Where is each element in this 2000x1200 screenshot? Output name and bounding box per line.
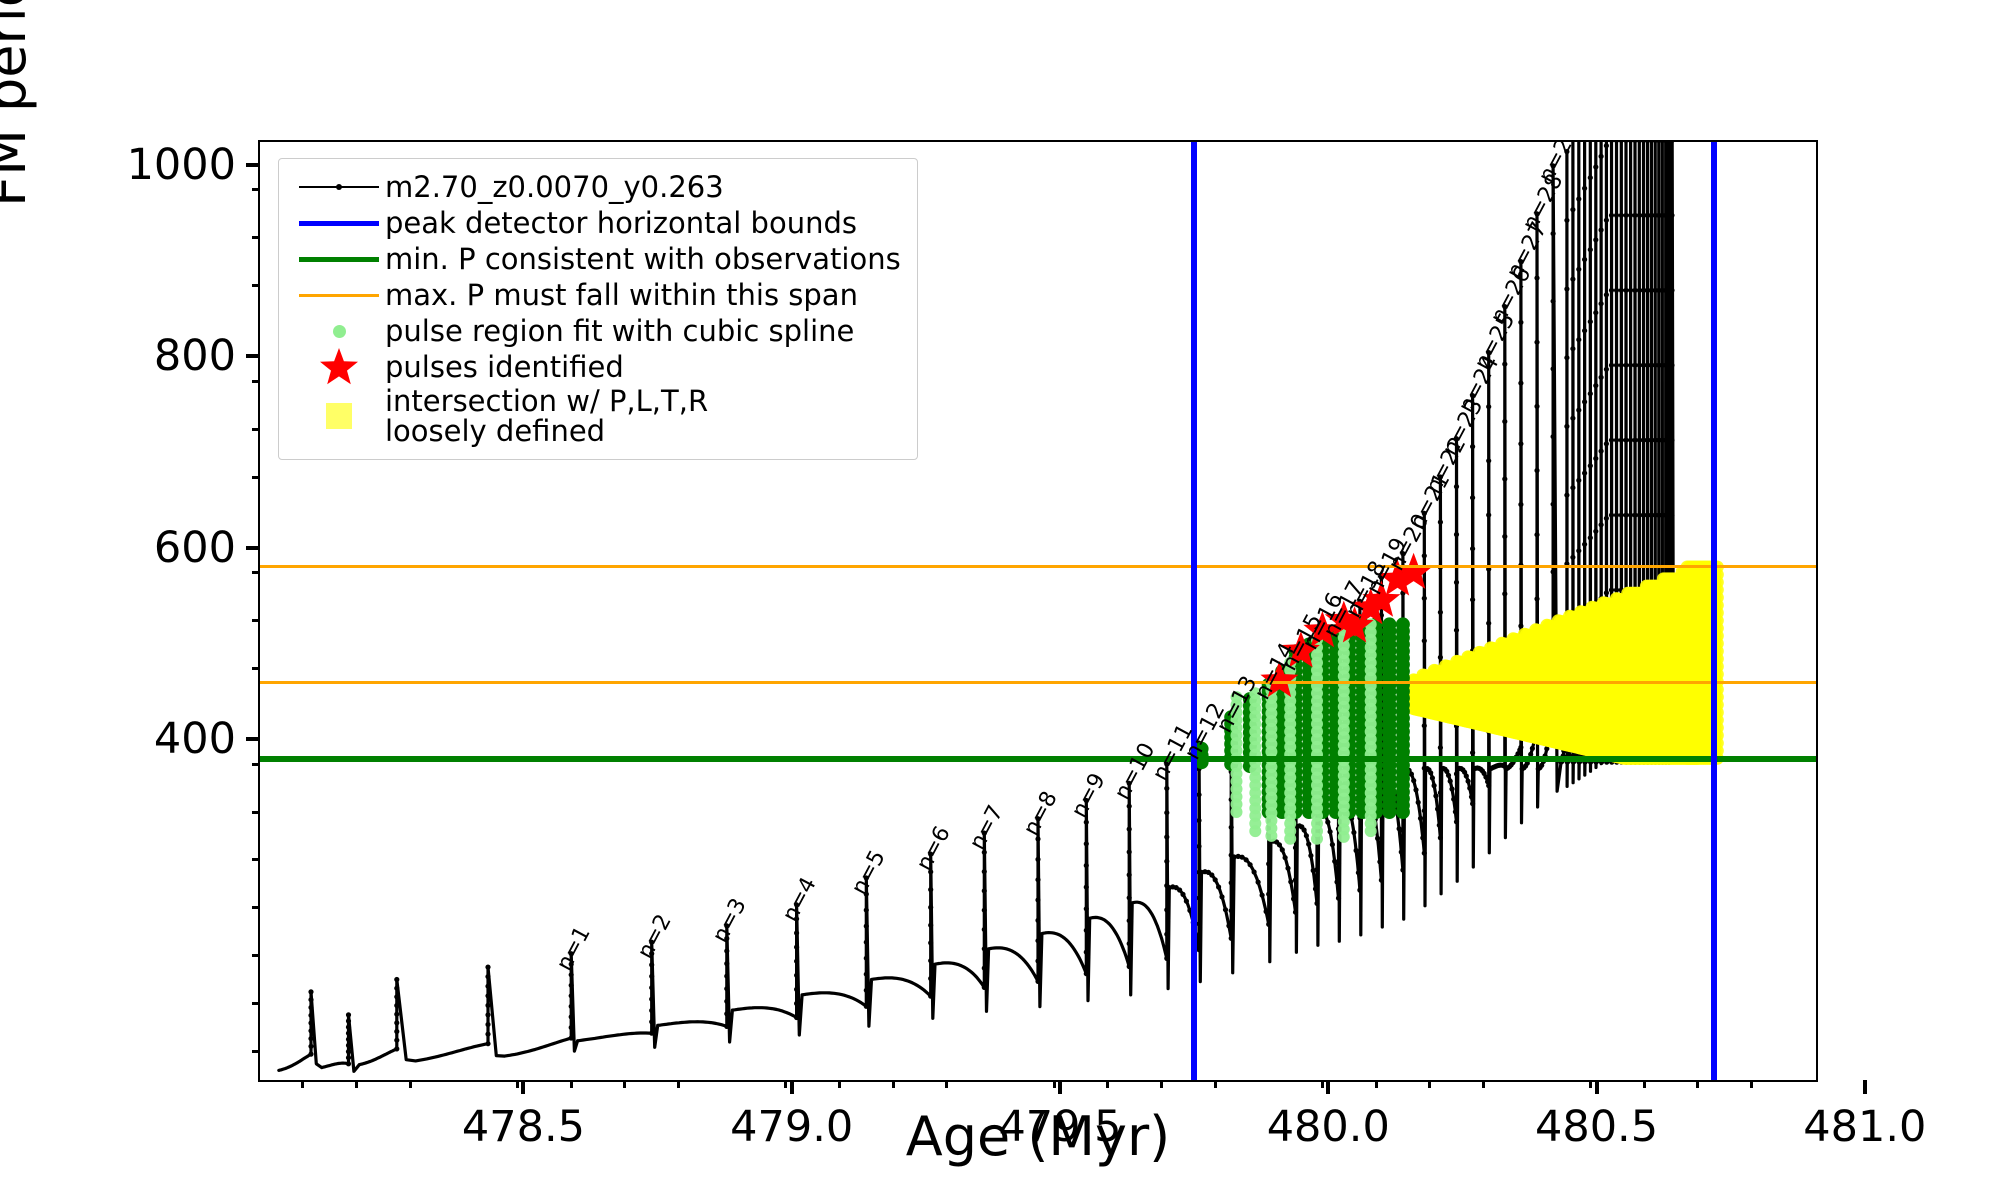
track-marker [1280,847,1285,852]
track-marker [1196,947,1201,952]
track-marker [1609,438,1614,443]
track-marker [1180,892,1185,897]
track-marker [1379,878,1384,883]
track-marker [1223,907,1228,912]
track-marker [1219,894,1224,899]
track-marker [1534,340,1539,345]
x-tick-minor-mark [1428,1080,1431,1088]
track-marker [1534,404,1539,409]
x-tick-minor [1375,1080,1378,1088]
track-marker [1196,844,1201,849]
track-marker [1330,842,1335,847]
x-tick-minor-mark [1214,1080,1217,1088]
x-tick-minor [1214,1080,1217,1088]
track-marker [1582,328,1587,333]
track-marker [928,994,933,999]
track-marker [1422,808,1427,813]
track-marker [1502,419,1507,424]
x-tick-minor-mark [892,1080,895,1088]
track-marker [1164,907,1169,912]
track-marker [1438,610,1443,615]
track-marker [1518,745,1523,750]
x-tick-480.5: 480.5 [1535,1080,1658,1152]
track-marker [1454,484,1459,489]
y-tick-minor-mark [252,428,260,431]
track-marker [1196,792,1201,797]
x-tick-minor [1428,1080,1431,1088]
x-tick-480.0: 480.0 [1267,1080,1390,1152]
track-marker [1470,495,1475,500]
track-marker [1357,851,1362,856]
x-tick-mark [521,1080,525,1094]
legend-green-line-icon [293,241,385,277]
track-marker [1669,513,1674,518]
track-marker [346,1037,351,1042]
track-marker [1614,288,1619,293]
track-marker [1302,827,1307,832]
track-marker [1430,775,1435,780]
track-marker [1277,842,1282,847]
track-marker [1649,142,1654,143]
track-marker [1422,723,1427,728]
legend-item-3[interactable]: max. P must fall within this span [293,277,901,313]
legend-blue-line-icon [293,205,385,241]
x-tick-minor-mark [1106,1080,1109,1088]
track-marker [1306,842,1311,847]
x-tick-minor-mark [945,1080,948,1088]
y-tick-minor-mark [252,188,260,191]
track-marker [1084,841,1089,846]
y-tick-minor [252,858,260,861]
y-tick-minor-mark [252,1002,260,1005]
track-marker [1564,218,1569,223]
track-marker [394,1038,399,1043]
track-marker [1229,880,1234,885]
track-marker [1570,207,1575,212]
track-marker [1351,830,1356,835]
track-marker [1582,257,1587,262]
track-marker [1446,773,1451,778]
track-marker [1422,638,1427,643]
y-tick-minor [252,811,260,814]
legend-square-icon [293,398,385,434]
y-tick-minor-mark [252,476,260,479]
track-marker [569,1025,574,1030]
track-marker [1266,861,1271,866]
track-marker [1570,416,1575,421]
track-marker [1449,786,1454,791]
track-marker [1551,299,1556,304]
track-marker [1451,797,1456,802]
y-axis-title: FM period (days) [0,0,38,300]
track-marker [1564,424,1569,429]
track-marker [346,1018,351,1023]
x-tick-479.0: 479.0 [730,1080,853,1152]
track-marker [1576,408,1581,413]
track-marker [1470,750,1475,755]
track-marker [1486,783,1491,788]
track-marker [794,959,799,964]
legend-item-1[interactable]: peak detector horizontal bounds [293,205,901,241]
x-tick-label: 479.5 [998,1102,1121,1152]
track-marker [1669,363,1674,368]
x-tick-minor-mark [516,1080,519,1088]
track-marker [1502,534,1507,539]
x-tick-481.0: 481.0 [1803,1080,1926,1152]
x-tick-mark [1595,1080,1599,1094]
track-marker [1283,855,1288,860]
track-marker [1336,861,1341,866]
track-marker [1454,580,1459,585]
legend[interactable]: m2.70_z0.0070_y0.263peak detector horizo… [278,158,918,460]
track-marker [1164,810,1169,815]
track-marker [1614,142,1619,143]
track-marker [1628,142,1633,143]
track-marker [1551,231,1556,236]
track-marker [649,1031,654,1036]
x-tick-minor-mark [301,1080,304,1088]
track-marker [1084,906,1089,911]
track-marker [1623,142,1628,143]
track-marker [1588,535,1593,540]
track-marker [1534,596,1539,601]
track-marker [1669,288,1674,293]
track-marker [1604,218,1609,223]
track-marker [1035,857,1040,862]
track-marker [928,905,933,910]
track-marker [649,997,654,1002]
x-tick-minor [1160,1080,1163,1088]
x-tick-minor-mark [1750,1080,1753,1088]
y-tick-minor [252,476,260,479]
x-tick-mark [1058,1080,1062,1094]
track-marker [1582,471,1587,476]
x-tick-label: 478.5 [462,1102,585,1152]
legend-item-5[interactable]: pulses identified [293,349,901,385]
y-tick-label: 800 [154,331,236,381]
y-tick-label: 400 [154,714,236,764]
track-marker [649,974,654,979]
track-marker [485,1032,490,1037]
track-marker [649,985,654,990]
track-marker [569,983,574,988]
track-marker [1400,867,1405,872]
track-marker [1669,213,1674,218]
x-tick-minor [301,1080,304,1088]
track-marker [1593,310,1598,315]
track-marker [1604,367,1609,372]
track-marker [1127,804,1132,809]
y-tick-minor [252,1050,260,1053]
track-marker [1614,363,1619,368]
track-marker [982,985,987,990]
x-tick-479.5: 479.5 [998,1080,1121,1152]
track-marker [1209,872,1214,877]
track-marker [1313,886,1318,891]
track-marker [1454,532,1459,537]
track-marker [1483,774,1488,779]
x-tick-478.5: 478.5 [462,1080,585,1152]
track-marker [1127,964,1132,969]
track-marker [982,946,987,951]
track-marker [1164,956,1169,961]
track-marker [1609,513,1614,518]
track-marker [1576,196,1581,201]
hline-max-p-must-fall-within-this-span-lower- [260,681,1816,684]
track-marker [346,1043,351,1048]
track-marker [864,956,869,961]
track-marker [1614,513,1619,518]
x-tick-minor-mark [677,1080,680,1088]
y-tick-mark [246,354,260,358]
track-marker [485,1003,490,1008]
track-marker [1551,366,1556,371]
legend-item-label: m2.70_z0.0070_y0.263 [385,172,724,202]
y-tick-minor-mark [252,284,260,287]
track-marker [1641,142,1646,143]
track-marker [1336,896,1341,901]
track-marker [1127,849,1132,854]
track-marker [1266,922,1271,927]
track-marker [1564,286,1569,291]
y-tick-1000: 1000 [127,140,260,190]
track-marker [1035,938,1040,943]
legend-item-4[interactable]: pulse region fit with cubic spline [293,313,901,349]
vline-peak-detector-horizontal-bounds-right- [1711,142,1717,1080]
track-marker [1308,853,1313,858]
track-marker [1256,880,1261,885]
track-marker [1614,438,1619,443]
legend-item-label: max. P must fall within this span [385,280,858,310]
track-marker [1293,910,1298,915]
track-marker [308,1052,313,1057]
track-marker [1438,745,1443,750]
track-marker [1518,381,1523,386]
legend-item-6[interactable]: intersection w/ P,L,T,Rloosely defined [293,385,901,447]
track-marker [485,1022,490,1027]
legend-item-label: min. P consistent with observations [385,244,901,274]
track-marker [794,1015,799,1020]
legend-orange-line-icon [293,277,385,313]
track-marker [1196,818,1201,823]
track-marker [1084,971,1089,976]
x-tick-label: 480.0 [1267,1102,1390,1152]
track-marker [1244,857,1249,862]
track-marker [1084,928,1089,933]
track-marker [1623,438,1628,443]
track-marker [1470,597,1475,602]
track-marker [394,1020,399,1025]
legend-rows: m2.70_z0.0070_y0.263peak detector horizo… [293,169,901,447]
track-marker [1669,438,1674,443]
track-marker [1551,434,1556,439]
track-marker [1609,288,1614,293]
track-marker [1623,513,1628,518]
track-marker [1619,363,1624,368]
track-marker [1420,835,1425,840]
track-marker [649,962,654,967]
track-marker [1619,213,1624,218]
track-marker [1127,941,1132,946]
track-marker [308,989,313,994]
track-marker [1593,164,1598,169]
track-marker [1619,438,1624,443]
plot-area: 4006008001000 478.5479.0479.5480.0480.54… [258,140,1818,1082]
track-marker [1570,277,1575,282]
x-tick-label: 480.5 [1535,1102,1658,1152]
x-tick-minor [784,1080,787,1088]
track-marker [1582,186,1587,191]
track-marker [1196,921,1201,926]
track-marker [308,1036,313,1041]
x-tick-minor [892,1080,895,1088]
x-tick-minor-mark [1482,1080,1485,1088]
track-marker [1637,142,1642,143]
track-marker [394,977,399,982]
track-marker [1453,809,1458,814]
track-marker [1213,877,1218,882]
track-marker [1229,908,1234,913]
y-tick-minor-mark [252,763,260,766]
track-marker [394,1046,399,1051]
y-tick-minor-mark [252,619,260,622]
legend-line-icon [293,169,385,205]
y-tick-minor [252,763,260,766]
track-marker [1599,154,1604,159]
x-tick-mark [1326,1080,1330,1094]
track-marker [1454,628,1459,633]
track-marker [1438,655,1443,660]
track-marker [1164,786,1169,791]
x-tick-minor-mark [1053,1080,1056,1088]
track-marker [1264,909,1269,914]
track-marker [928,958,933,963]
track-marker [569,1014,574,1019]
track-marker [1411,778,1416,783]
y-tick-label: 1000 [127,140,236,190]
track-marker [1593,456,1598,461]
x-tick-minor [1643,1080,1646,1088]
track-marker [1304,833,1309,838]
track-marker [1619,288,1624,293]
track-marker [1416,800,1421,805]
track-marker [485,974,490,979]
track-marker [1164,932,1169,937]
track-marker [1127,895,1132,900]
x-tick-mark [790,1080,794,1094]
track-marker [794,973,799,978]
y-tick-minor [252,236,260,239]
x-tick-minor-mark [623,1080,626,1088]
track-marker [1593,383,1598,388]
track-marker [1293,877,1298,882]
track-marker [1438,835,1443,840]
track-marker [1229,936,1234,941]
track-marker [1334,879,1339,884]
x-tick-minor [570,1080,573,1088]
x-tick-minor-mark [1643,1080,1646,1088]
track-marker [864,1004,869,1009]
track-marker [1486,621,1491,626]
track-marker [864,924,869,929]
track-marker [1609,142,1614,143]
track-marker [1377,859,1382,864]
track-marker [485,965,490,970]
track-marker [1433,793,1438,798]
track-marker [982,888,987,893]
track-marker [724,961,729,966]
track-marker [1604,516,1609,521]
track-marker [1438,790,1443,795]
track-marker [1177,887,1182,892]
track-marker [346,1055,351,1060]
y-tick-minor [252,906,260,909]
track-marker [1422,553,1427,558]
track-marker [1216,884,1221,889]
track-marker [1614,587,1619,592]
track-marker [1469,794,1474,799]
track-marker [928,887,933,892]
track-marker [1448,779,1453,784]
track-marker [1619,142,1624,143]
track-marker [724,999,729,1004]
track-marker [1418,816,1423,821]
track-marker [928,923,933,928]
figure-canvas: FM period (days) Age (Myr) 4006008001000… [0,0,2000,1200]
track-marker [1470,546,1475,551]
track-marker [1588,463,1593,468]
x-tick-minor [677,1080,680,1088]
track-marker [982,908,987,913]
track-marker [394,986,399,991]
x-tick-minor [1106,1080,1109,1088]
y-tick-800: 800 [154,331,260,381]
track-marker [394,1003,399,1008]
track-marker [1551,569,1556,574]
track-marker [1609,587,1614,592]
track-marker [1467,786,1472,791]
track-marker [1325,820,1330,825]
track-marker [1599,375,1604,380]
track-marker [1084,950,1089,955]
track-marker [1576,267,1581,272]
track-marker [1035,897,1040,902]
track-marker [1164,859,1169,864]
track-marker [1588,391,1593,396]
track-marker [1379,840,1384,845]
track-marker [1623,363,1628,368]
y-tick-minor [252,954,260,957]
x-tick-minor [838,1080,841,1088]
x-tick-mark [1863,1080,1867,1094]
track-marker [928,940,933,945]
track-marker [1328,829,1333,834]
track-marker [1196,895,1201,900]
legend-item-0[interactable]: m2.70_z0.0070_y0.263 [293,169,901,205]
y-tick-minor-mark [252,380,260,383]
y-tick-minor [252,380,260,383]
x-tick-minor [1482,1080,1485,1088]
y-tick-minor-mark [252,571,260,574]
track-marker [1588,247,1593,252]
marker-point [1382,617,1396,631]
x-tick-minor [623,1080,626,1088]
hline-max-p-must-fall-within-this-span-upper- [260,565,1816,568]
track-marker [1576,548,1581,553]
track-marker [1576,478,1581,483]
legend-item-2[interactable]: min. P consistent with observations [293,241,901,277]
track-marker [346,1049,351,1054]
